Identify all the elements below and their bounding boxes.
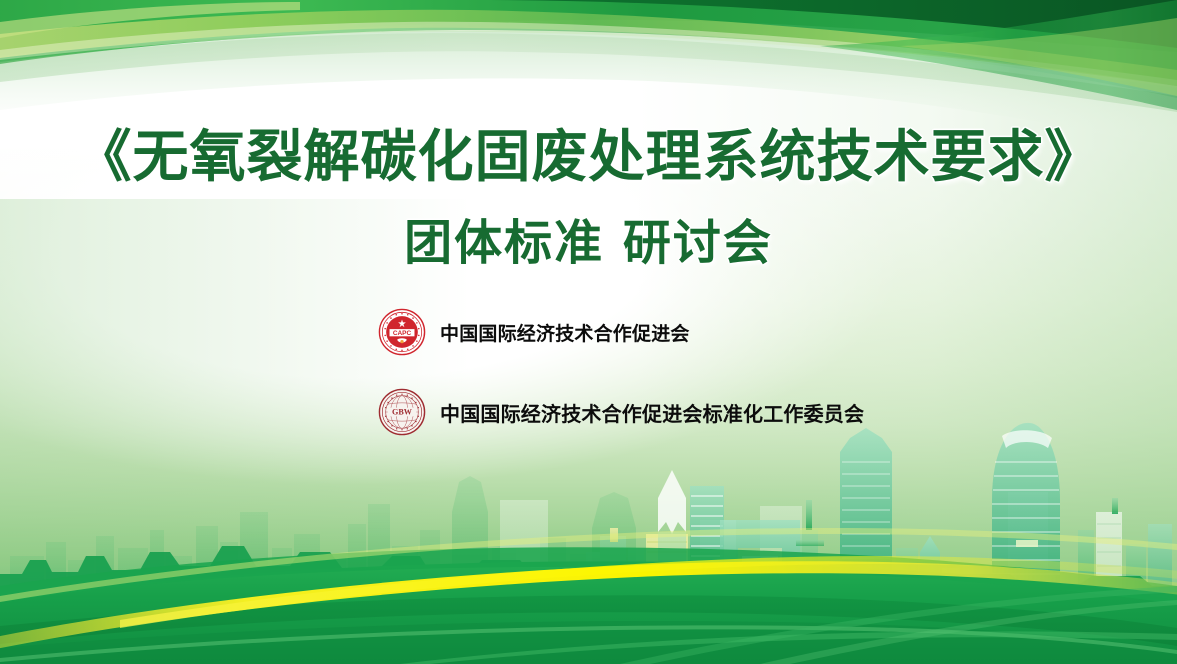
capc-seal-icon: CAPC	[378, 308, 426, 356]
organization-row-capc: CAPC 中国国际经济技术合作促进会	[378, 306, 1078, 358]
page-title: 《无氧裂解碳化固废处理系统技术要求》	[0, 112, 1177, 193]
organization-list: CAPC 中国国际经济技术合作促进会	[378, 306, 1078, 438]
organization-name-gbw: 中国国际经济技术合作促进会标准化工作委员会	[440, 398, 864, 427]
svg-text:GBW: GBW	[392, 407, 413, 416]
gbw-seal-icon: GBW	[378, 388, 426, 436]
slide-content: 《无氧裂解碳化固废处理系统技术要求》 团体标准 研讨会	[0, 0, 1177, 664]
organization-name-capc: 中国国际经济技术合作促进会	[440, 319, 690, 346]
organization-row-gbw: GBW 中国国际经济技术合作促进会标准化工作委员会	[378, 386, 1078, 438]
svg-text:CAPC: CAPC	[393, 330, 412, 337]
presentation-slide: 《无氧裂解碳化固废处理系统技术要求》 团体标准 研讨会	[0, 0, 1177, 664]
page-subtitle: 团体标准 研讨会	[0, 203, 1177, 273]
